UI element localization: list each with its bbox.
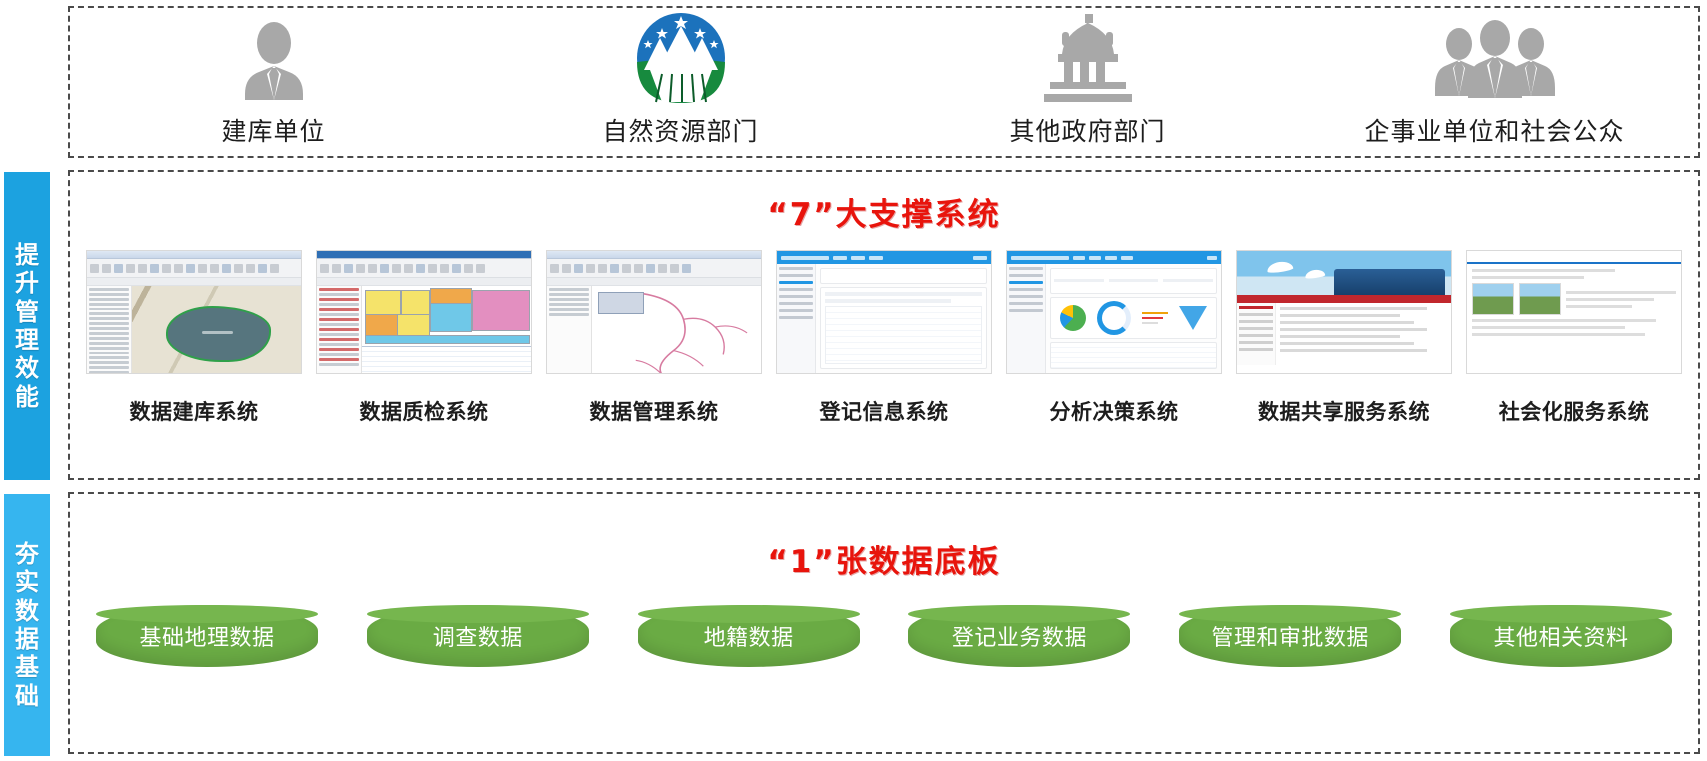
system-item-1[interactable]: 数据质检系统 — [316, 250, 532, 426]
ring-chart — [1097, 301, 1131, 335]
system-item-4[interactable]: 分析决策系统 — [1006, 250, 1222, 426]
stakeholder-item-0[interactable]: 建库单位 — [144, 16, 404, 148]
blue-form-web-app-thumbnail[interactable] — [776, 250, 992, 374]
system-item-0[interactable]: 数据建库系统 — [86, 250, 302, 426]
stakeholder-label: 建库单位 — [221, 112, 325, 148]
systems-row: 数据建库系统 — [70, 250, 1698, 426]
rail-char: 据 — [15, 625, 39, 653]
rail-char: 夯 — [15, 540, 39, 568]
data-pill-4[interactable]: 管理和审批数据 — [1179, 605, 1401, 667]
analytics-dashboard-web-app-thumbnail[interactable] — [1006, 250, 1222, 374]
system-label: 数据质检系统 — [360, 396, 489, 426]
system-label: 数据共享服务系统 — [1258, 396, 1430, 426]
system-item-3[interactable]: 登记信息系统 — [776, 250, 992, 426]
stakeholder-label: 其他政府部门 — [1009, 112, 1165, 148]
data-base-title: “1”张数据底板 — [70, 536, 1698, 581]
data-pill-label: 管理和审批数据 — [1211, 620, 1369, 652]
rail-char: 能 — [15, 383, 39, 411]
stakeholder-item-3[interactable]: 企事业单位和社会公众 — [1365, 16, 1625, 148]
funnel-chart — [1179, 306, 1207, 330]
vector-lines-desktop-app-thumbnail[interactable] — [546, 250, 762, 374]
data-pill-0[interactable]: 基础地理数据 — [96, 605, 318, 667]
data-pill-label: 地籍数据 — [704, 620, 794, 652]
diagram-canvas: 建库单位 — [0, 0, 1707, 761]
rail-char: 理 — [15, 326, 39, 354]
system-label: 社会化服务系统 — [1499, 396, 1650, 426]
red-portal-site-thumbnail[interactable] — [1236, 250, 1452, 374]
data-pill-3[interactable]: 登记业务数据 — [908, 605, 1130, 667]
stakeholder-item-2[interactable]: 其他政府部门 — [958, 16, 1218, 148]
people-group-icon — [1425, 18, 1565, 104]
seven-systems-panel: “7”大支撑系统 数据建库系统 — [68, 170, 1700, 480]
data-pill-label: 调查数据 — [433, 620, 523, 652]
data-pill-1[interactable]: 调查数据 — [367, 605, 589, 667]
data-pill-label: 其他相关资料 — [1493, 620, 1628, 652]
data-pill-label: 基础地理数据 — [139, 620, 274, 652]
data-pill-5[interactable]: 其他相关资料 — [1450, 605, 1672, 667]
rail-char: 管 — [15, 298, 39, 326]
rail-char: 提 — [15, 241, 39, 269]
rail-char: 础 — [15, 682, 39, 710]
data-pill-label: 登记业务数据 — [952, 620, 1087, 652]
rail-improve-management: 提 升 管 理 效 能 — [4, 172, 50, 480]
aerial-map-desktop-app-thumbnail[interactable] — [86, 250, 302, 374]
donut-chart — [1060, 305, 1086, 331]
stakeholders-panel: 建库单位 — [68, 6, 1700, 158]
rail-char: 升 — [15, 269, 39, 297]
data-base-pill-row: 基础地理数据 调查数据 地籍数据 登记业务数据 管理和审批数据 其他相关资料 — [70, 605, 1698, 667]
natural-resources-emblem-icon — [626, 18, 736, 104]
stakeholder-label: 企事业单位和社会公众 — [1365, 112, 1625, 148]
system-item-6[interactable]: 社会化服务系统 — [1466, 250, 1682, 426]
system-label: 数据管理系统 — [590, 396, 719, 426]
system-label: 分析决策系统 — [1050, 396, 1179, 426]
rail-char: 基 — [15, 653, 39, 681]
rail-char: 实 — [15, 568, 39, 596]
system-item-5[interactable]: 数据共享服务系统 — [1236, 250, 1452, 426]
system-label: 登记信息系统 — [820, 396, 949, 426]
stakeholder-label: 自然资源部门 — [602, 112, 758, 148]
stakeholders-row: 建库单位 — [70, 8, 1698, 156]
system-label: 数据建库系统 — [130, 396, 259, 426]
government-building-icon — [1028, 18, 1148, 104]
seven-systems-title: “7”大支撑系统 — [70, 189, 1698, 234]
person-tie-icon — [231, 18, 317, 104]
system-item-2[interactable]: 数据管理系统 — [546, 250, 762, 426]
rail-char: 数 — [15, 597, 39, 625]
data-pill-2[interactable]: 地籍数据 — [638, 605, 860, 667]
data-base-panel: “1”张数据底板 基础地理数据 调查数据 地籍数据 登记业务数据 管理和审批数据… — [68, 492, 1700, 754]
cadastral-parcels-desktop-app-thumbnail[interactable] — [316, 250, 532, 374]
rail-char: 效 — [15, 354, 39, 382]
public-service-site-thumbnail[interactable] — [1466, 250, 1682, 374]
rail-solidify-data-foundation: 夯 实 数 据 基 础 — [4, 494, 50, 756]
stakeholder-item-1[interactable]: 自然资源部门 — [551, 16, 811, 148]
